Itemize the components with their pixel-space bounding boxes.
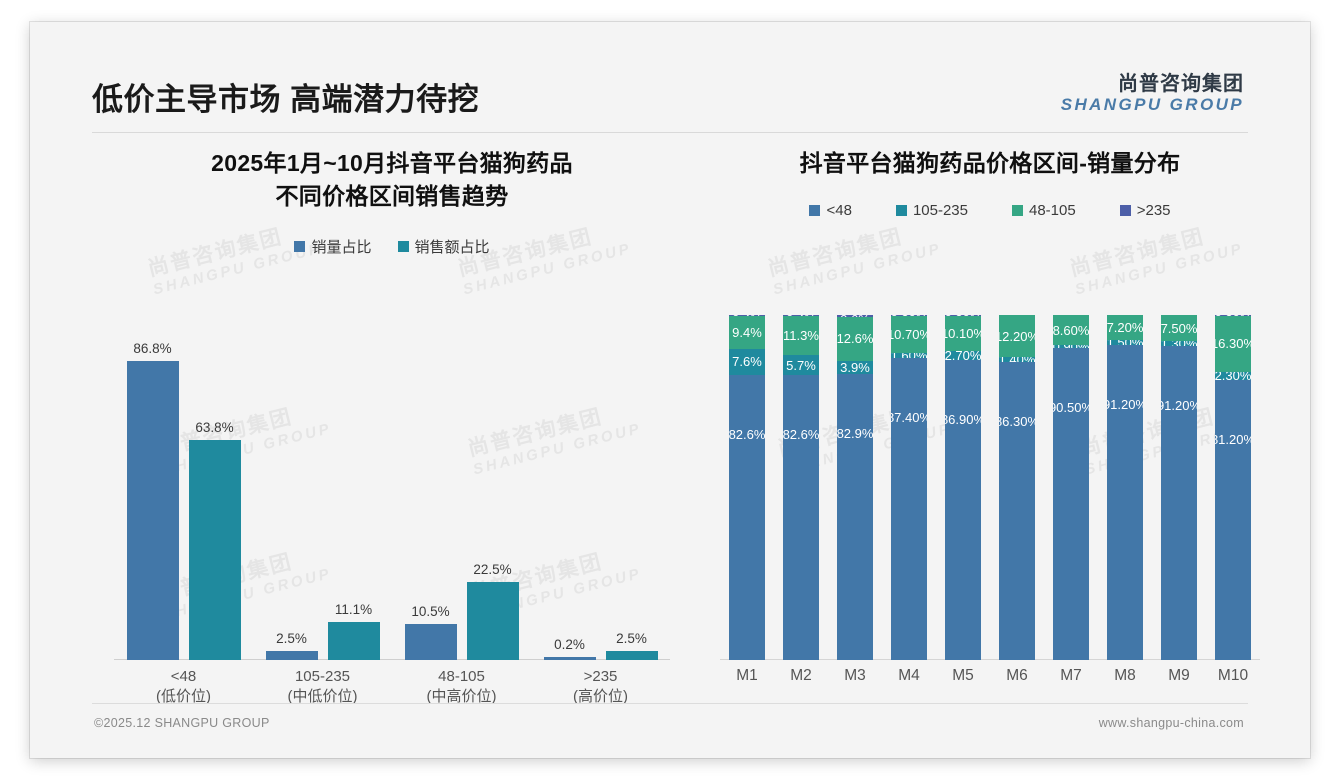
bar-value-label: 0.2% — [554, 637, 585, 652]
segment-value-label: 5.7% — [786, 358, 816, 373]
bar-column[interactable]: 2.5% — [266, 315, 318, 660]
segment-value-label: 91.20% — [1161, 398, 1197, 413]
bar-column[interactable]: 86.8% — [127, 315, 179, 660]
bar[interactable] — [544, 657, 596, 660]
stacked-bar[interactable]: 0.20%16.30%2.30%81.20% — [1215, 315, 1251, 660]
right-chart-plot-area: 0.4%9.4%7.6%82.6%M10.4%11.3%5.7%82.6%M20… — [720, 315, 1260, 660]
brand-logo: 尚普咨询集团 SHANGPU GROUP — [1061, 74, 1244, 114]
x-axis-month-label: M4 — [891, 667, 927, 685]
bar-value-label: 10.5% — [411, 604, 449, 619]
bar-value-label: 63.8% — [195, 420, 233, 435]
stacked-bar[interactable]: 0.30%10.10%2.70%86.90% — [945, 315, 981, 660]
x-axis-month-label: M10 — [1215, 667, 1251, 685]
x-axis-month-label: M2 — [783, 667, 819, 685]
segment-value-label: 90.50% — [1053, 400, 1089, 415]
footer-copyright: ©2025.12 SHANGPU GROUP — [94, 716, 270, 730]
x-axis-category-sub: (中高价位) — [392, 687, 531, 707]
legend-label: 48-105 — [1029, 202, 1076, 219]
x-axis-month-label: M9 — [1161, 667, 1197, 685]
segment-value-label: 2.30% — [1215, 372, 1251, 380]
bar-group: 86.8%63.8% — [114, 315, 253, 660]
stacked-bar-segment[interactable]: 16.30% — [1215, 316, 1251, 372]
stacked-bar-segment[interactable]: 8.60% — [1053, 315, 1089, 345]
x-axis-month-label: M6 — [999, 667, 1035, 685]
segment-value-label: 9.4% — [732, 325, 762, 340]
x-axis-month-label: M3 — [837, 667, 873, 685]
brand-name-en: SHANGPU GROUP — [1061, 96, 1244, 114]
stacked-bar-segment[interactable]: 81.20% — [1215, 380, 1251, 660]
legend-swatch-icon — [809, 205, 820, 216]
left-chart-title-line2: 不同价格区间销售趋势 — [92, 180, 692, 213]
legend-swatch-icon — [294, 241, 305, 252]
x-axis-category-main: <48 — [114, 667, 253, 687]
segment-value-label: 7.6% — [732, 354, 762, 369]
stacked-bar-segment[interactable]: 82.6% — [783, 375, 819, 660]
legend-label: <48 — [826, 202, 851, 219]
legend-label: >235 — [1137, 202, 1171, 219]
segment-value-label: 91.20% — [1107, 397, 1143, 412]
bar[interactable] — [127, 361, 179, 660]
x-axis-category-sub: (高价位) — [531, 687, 670, 707]
segment-value-label: 82.6% — [783, 427, 819, 442]
stacked-bar-segment[interactable]: 7.50% — [1161, 315, 1197, 341]
stacked-bar-segment[interactable]: 7.6% — [729, 349, 765, 375]
bar-value-label: 2.5% — [276, 631, 307, 646]
slide-header: 低价主导市场 高端潜力待挖 尚普咨询集团 SHANGPU GROUP — [30, 22, 1310, 114]
legend-swatch-icon — [1120, 205, 1131, 216]
stacked-bar-segment[interactable]: 12.6% — [837, 317, 873, 360]
left-chart-title: 2025年1月~10月抖音平台猫狗药品 不同价格区间销售趋势 — [92, 147, 692, 214]
stacked-bar-segment[interactable]: 3.9% — [837, 361, 873, 374]
legend-swatch-icon — [1012, 205, 1023, 216]
page-title: 低价主导市场 高端潜力待挖 — [92, 74, 479, 119]
x-axis-category-sub: (低价位) — [114, 687, 253, 707]
legend-item[interactable]: >235 — [1120, 202, 1171, 219]
legend-label: 销售额占比 — [415, 236, 490, 257]
segment-value-label: 87.40% — [891, 410, 927, 425]
legend-label: 销量占比 — [311, 236, 371, 257]
stacked-bar-segment[interactable]: 91.20% — [1107, 345, 1143, 660]
segment-value-label: 3.9% — [840, 361, 870, 374]
slide-canvas: 尚普咨询集团 SHANGPU GROUP 尚普咨询集团 SHANGPU GROU… — [30, 22, 1310, 758]
segment-value-label: 7.50% — [1161, 321, 1197, 336]
legend-item[interactable]: 48-105 — [1012, 202, 1076, 219]
stacked-bar[interactable]: 0.10%8.60%0.90%90.50% — [1053, 315, 1089, 660]
stacked-bar-segment[interactable]: 5.7% — [783, 355, 819, 375]
legend-swatch-icon — [398, 241, 409, 252]
stacked-bar-segment[interactable]: 2.70% — [945, 351, 981, 360]
x-axis-month-label: M5 — [945, 667, 981, 685]
stacked-bar-segment[interactable]: 87.40% — [891, 358, 927, 660]
stacked-bar-segment[interactable]: 86.30% — [999, 362, 1035, 660]
stacked-bar-segment[interactable]: 7.20% — [1107, 315, 1143, 340]
stacked-bar-segment[interactable]: 10.70% — [891, 316, 927, 353]
right-chart-title: 抖音平台猫狗药品价格区间-销量分布 — [710, 147, 1270, 180]
segment-value-label: 8.60% — [1053, 323, 1089, 338]
x-axis-category-label: 105-235(中低价位) — [253, 667, 392, 708]
segment-value-label: 7.20% — [1107, 320, 1143, 335]
legend-item[interactable]: 销售额占比 — [398, 236, 490, 257]
stacked-bar[interactable]: 0.4%11.3%5.7%82.6% — [783, 315, 819, 660]
stacked-bar[interactable]: 0.10%7.20%1.50%91.20% — [1107, 315, 1143, 660]
bar-value-label: 86.8% — [133, 341, 171, 356]
chart-panel-right: 抖音平台猫狗药品价格区间-销量分布 <48105-23548-105>235 0… — [710, 147, 1270, 707]
stacked-bar-segment[interactable]: 82.9% — [837, 374, 873, 660]
stacked-bar-segment[interactable]: 91.20% — [1161, 346, 1197, 660]
x-axis-category-main: 48-105 — [392, 667, 531, 687]
x-axis-category-main: 105-235 — [253, 667, 392, 687]
segment-value-label: 86.90% — [945, 412, 981, 427]
x-axis-category-main: >235 — [531, 667, 670, 687]
bar-column[interactable]: 11.1% — [328, 315, 380, 660]
bar-value-label: 22.5% — [473, 562, 511, 577]
bar[interactable] — [405, 624, 457, 660]
bar-group: 2.5%11.1% — [253, 315, 392, 660]
legend-item[interactable]: 105-235 — [896, 202, 968, 219]
bar[interactable] — [606, 651, 658, 660]
stacked-bar[interactable]: 0.6%12.6%3.9%82.9% — [837, 315, 873, 660]
bar-column[interactable]: 10.5% — [405, 315, 457, 660]
segment-value-label: 11.3% — [783, 328, 819, 343]
x-axis-month-label: M8 — [1107, 667, 1143, 685]
x-axis-month-label: M1 — [729, 667, 765, 685]
stacked-bar-segment[interactable]: 90.50% — [1053, 348, 1089, 660]
left-chart-plot-area: 86.8%63.8%<48(低价位)2.5%11.1%105-235(中低价位)… — [114, 315, 670, 660]
segment-value-label: 10.10% — [945, 326, 981, 341]
stacked-bar[interactable]: 0.4%9.4%7.6%82.6% — [729, 315, 765, 660]
right-chart-legend: <48105-23548-105>235 — [710, 202, 1270, 219]
stacked-bar[interactable]: 0.20%10.70%1.60%87.40% — [891, 315, 927, 660]
footer-website: www.shangpu-china.com — [1099, 716, 1244, 730]
bar-column[interactable]: 0.2% — [544, 315, 596, 660]
bar[interactable] — [328, 622, 380, 660]
legend-item[interactable]: <48 — [809, 202, 851, 219]
footer-divider — [92, 703, 1248, 704]
segment-value-label: 81.20% — [1215, 432, 1251, 447]
x-axis-category-sub: (中低价位) — [253, 687, 392, 707]
bar[interactable] — [266, 651, 318, 660]
header-divider — [92, 132, 1248, 133]
bar-column[interactable]: 2.5% — [606, 315, 658, 660]
left-chart-legend: 销量占比销售额占比 — [92, 236, 692, 257]
chart-panel-left: 2025年1月~10月抖音平台猫狗药品 不同价格区间销售趋势 销量占比销售额占比… — [92, 147, 692, 707]
x-axis-category-label: <48(低价位) — [114, 667, 253, 708]
stacked-bar-segment[interactable]: 11.3% — [783, 316, 819, 355]
bar-group: 10.5%22.5% — [392, 315, 531, 660]
legend-label: 105-235 — [913, 202, 968, 219]
legend-item[interactable]: 销量占比 — [294, 236, 371, 257]
bar[interactable] — [467, 582, 519, 660]
segment-value-label: 16.30% — [1215, 336, 1251, 351]
x-axis-category-label: >235(高价位) — [531, 667, 670, 708]
bar-value-label: 11.1% — [335, 602, 372, 617]
stacked-bar-segment[interactable]: 86.90% — [945, 360, 981, 660]
segment-value-label: 12.6% — [837, 331, 873, 346]
bar-group: 0.2%2.5% — [531, 315, 670, 660]
segment-value-label: 10.70% — [891, 327, 927, 342]
bar-column[interactable]: 63.8% — [189, 315, 241, 660]
x-axis-month-label: M7 — [1053, 667, 1089, 685]
stacked-bar[interactable]: 0.10%12.20%1.40%86.30% — [999, 315, 1035, 660]
bar[interactable] — [189, 440, 241, 660]
segment-value-label: 82.9% — [837, 426, 873, 441]
x-axis-category-label: 48-105(中高价位) — [392, 667, 531, 708]
left-chart-title-line1: 2025年1月~10月抖音平台猫狗药品 — [92, 147, 692, 180]
stacked-bar-segment[interactable]: 12.20% — [999, 315, 1035, 357]
segment-value-label: 82.6% — [729, 427, 765, 442]
brand-name-cn: 尚普咨询集团 — [1061, 74, 1244, 95]
bar-column[interactable]: 22.5% — [467, 315, 519, 660]
stacked-bar-segment[interactable]: 10.10% — [945, 316, 981, 351]
legend-swatch-icon — [896, 205, 907, 216]
segment-value-label: 2.70% — [945, 351, 981, 360]
stacked-bar[interactable]: 0.10%7.50%1.30%91.20% — [1161, 315, 1197, 660]
stacked-bar-segment[interactable]: 9.4% — [729, 316, 765, 348]
segment-value-label: 86.30% — [999, 414, 1035, 429]
bar-value-label: 2.5% — [616, 631, 647, 646]
segment-value-label: 12.20% — [999, 329, 1035, 344]
stacked-bar-segment[interactable]: 2.30% — [1215, 372, 1251, 380]
stacked-bar-segment[interactable]: 82.6% — [729, 375, 765, 660]
